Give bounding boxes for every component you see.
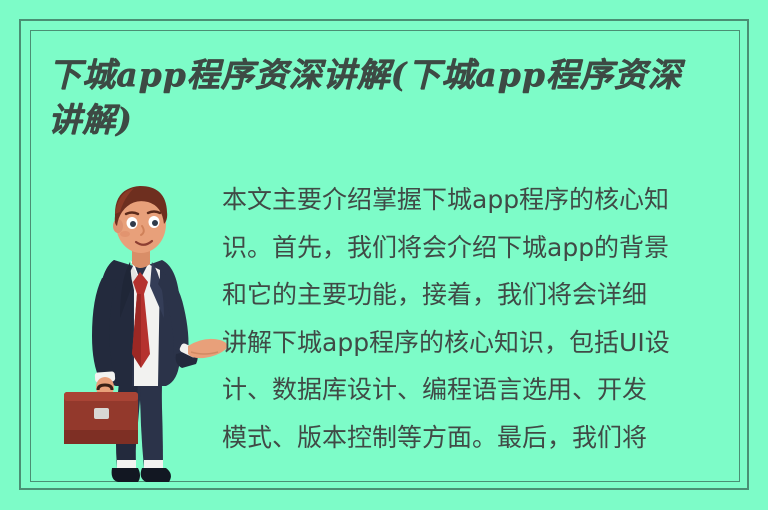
body-line-3: 和它的主要功能，接着，我们将会详细 — [222, 271, 734, 319]
businessman-illustration — [62, 168, 232, 488]
body-line-2: 识。首先，我们将会介绍下城app的背景 — [222, 224, 734, 272]
body-line-1: 本文主要介绍掌握下城app程序的核心知 — [222, 176, 734, 224]
body-line-5: 计、数据库设计、编程语言选用、开发 — [222, 366, 734, 414]
article-card: 下城app程序资深讲解(下城app程序资深 讲解) — [0, 0, 768, 510]
title-line-1: 下城app程序资深讲解(下城app程序资深 — [48, 55, 682, 94]
body-line-6: 模式、版本控制等方面。最后，我们将 — [222, 414, 734, 462]
title-line-2: 讲解) — [48, 100, 133, 139]
page-title: 下城app程序资深讲解(下城app程序资深 讲解) — [48, 52, 728, 142]
body-line-4: 讲解下城app程序的核心知识，包括UI设 — [222, 319, 734, 367]
article-body: 本文主要介绍掌握下城app程序的核心知 识。首先，我们将会介绍下城app的背景 … — [222, 176, 734, 461]
businessman-figure — [64, 186, 227, 482]
